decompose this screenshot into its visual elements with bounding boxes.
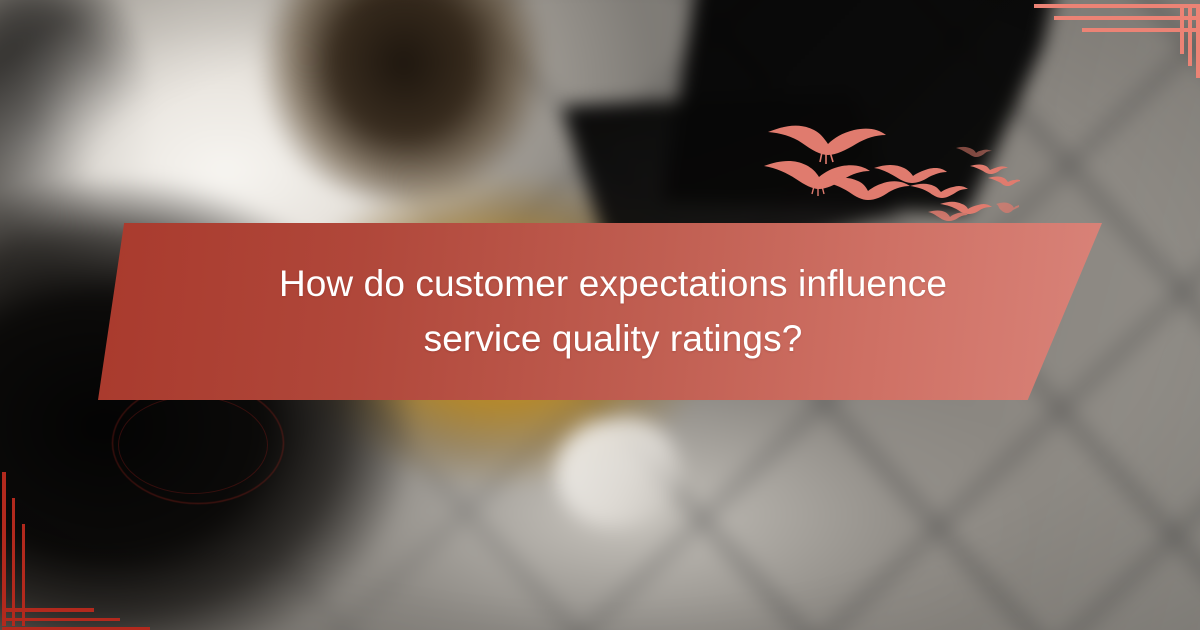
headline-banner: How do customer expectations influence s… (98, 223, 1102, 400)
page-title: How do customer expectations influence s… (217, 257, 983, 367)
banner-canvas: How do customer expectations influence s… (0, 0, 1200, 630)
